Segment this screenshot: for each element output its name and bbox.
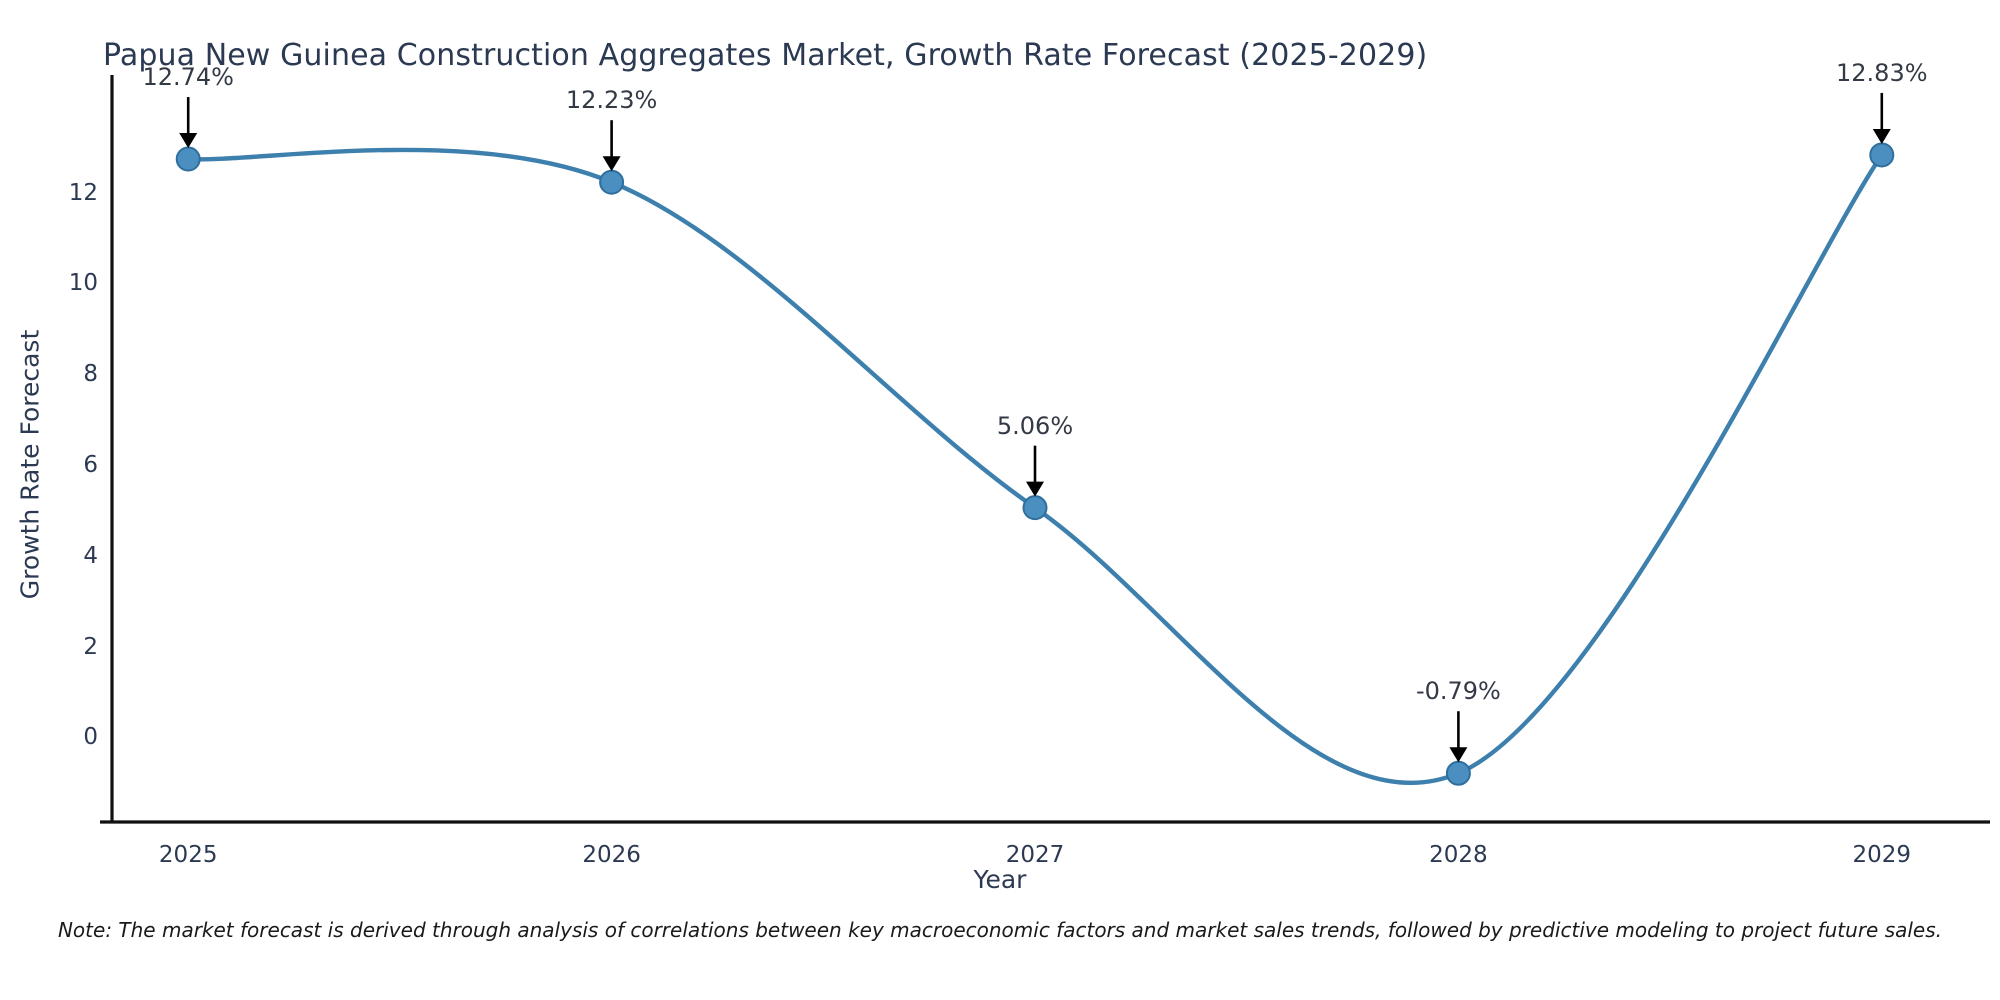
x-tick-label: 2026	[532, 842, 692, 868]
point-value-label: 12.23%	[512, 86, 712, 114]
y-tick-label: 4	[8, 543, 98, 569]
footnote: Note: The market forecast is derived thr…	[0, 918, 2000, 942]
x-tick-label: 2025	[108, 842, 268, 868]
y-tick-label: 8	[8, 361, 98, 387]
annotation-arrow	[1026, 446, 1044, 497]
data-point-marker	[600, 171, 623, 194]
point-value-label: 12.83%	[1782, 59, 1982, 87]
annotation-arrow	[1449, 711, 1467, 762]
x-tick-label: 2028	[1378, 842, 1538, 868]
y-tick-label: 0	[8, 724, 98, 750]
annotation-arrow	[179, 97, 197, 148]
y-tick-label: 2	[8, 634, 98, 660]
y-tick-label: 6	[8, 452, 98, 478]
y-tick-label: 10	[8, 270, 98, 296]
chart-page: Papua New Guinea Construction Aggregates…	[0, 0, 2000, 1000]
annotation-arrow	[603, 120, 621, 171]
x-tick-label: 2029	[1802, 842, 1962, 868]
point-value-label: 12.74%	[88, 63, 288, 91]
point-value-label: -0.79%	[1358, 677, 1558, 705]
data-point-marker	[1447, 762, 1470, 785]
data-point-marker	[1870, 143, 1893, 166]
point-value-label: 5.06%	[935, 412, 1135, 440]
axes	[100, 75, 1990, 822]
annotation-arrow	[1873, 93, 1891, 144]
data-point-marker	[177, 148, 200, 171]
x-tick-label: 2027	[955, 842, 1115, 868]
y-tick-label: 12	[8, 180, 98, 206]
data-point-marker	[1024, 496, 1047, 519]
